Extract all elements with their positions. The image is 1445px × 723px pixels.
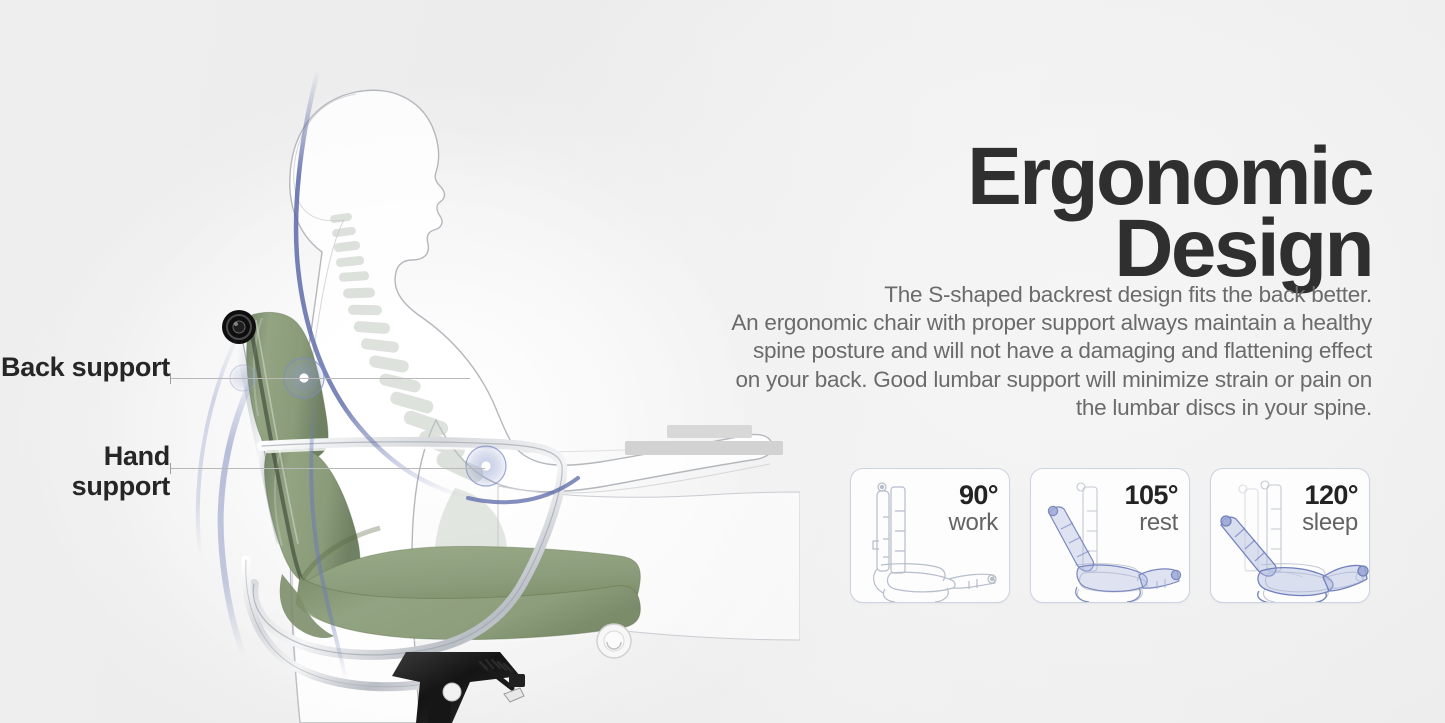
angle-card-work-mode: work xyxy=(949,510,998,536)
description-line-2: An ergonomic chair with proper support a… xyxy=(672,309,1372,337)
angle-card-work-degrees: 90° xyxy=(949,481,998,510)
angle-card-rest-text: 105° rest xyxy=(1125,481,1178,537)
content-column: Ergonomic Design The S-shaped backrest d… xyxy=(660,0,1445,723)
angle-card-sleep-mode: sleep xyxy=(1302,510,1358,536)
ergonomic-design-panel: Back support Hand support Ergonomic Desi… xyxy=(0,0,1445,723)
page-title: Ergonomic Design xyxy=(672,141,1372,285)
angle-card-sleep-text: 120° sleep xyxy=(1302,481,1358,537)
callout-back-support: Back support xyxy=(0,352,170,382)
leader-line-hand-support xyxy=(170,468,485,469)
angle-card-sleep-degrees: 120° xyxy=(1302,481,1358,510)
angle-card-work-text: 90° work xyxy=(949,481,998,537)
callout-back-support-line1: Back xyxy=(1,352,64,382)
callout-hand-support-line2: support xyxy=(72,471,170,501)
caster-wheel xyxy=(597,624,631,658)
backrest-pivot-knob xyxy=(222,310,256,344)
description-line-4: on your back. Good lumbar support will m… xyxy=(672,366,1372,394)
angle-card-rest-degrees: 105° xyxy=(1125,481,1178,510)
description-line-1: The S-shaped backrest design fits the ba… xyxy=(672,281,1372,309)
angle-card-rest[interactable]: 105° rest xyxy=(1030,468,1190,603)
page-title-line2: Design xyxy=(672,213,1372,285)
description-text: The S-shaped backrest design fits the ba… xyxy=(672,281,1372,423)
angle-card-rest-mode: rest xyxy=(1125,510,1178,536)
angle-card-list: 90° work xyxy=(850,468,1370,603)
angle-card-sleep[interactable]: 120° sleep xyxy=(1210,468,1370,603)
angle-card-work[interactable]: 90° work xyxy=(850,468,1010,603)
callout-hand-support-line1: Hand xyxy=(104,441,170,471)
hand-support-marker xyxy=(466,446,506,486)
callout-hand-support: Hand support xyxy=(0,441,170,501)
description-line-3: spine posture and will not have a damagi… xyxy=(672,337,1372,365)
description-line-5: the lumbar discs in your spine. xyxy=(672,394,1372,422)
callout-back-support-line2: support xyxy=(72,352,170,382)
leader-line-back-support xyxy=(170,378,470,379)
